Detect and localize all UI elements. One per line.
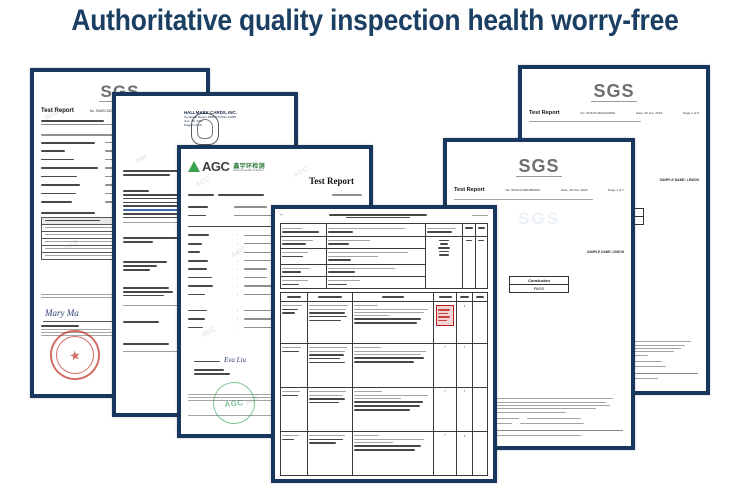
report-title: Test Report xyxy=(529,110,560,116)
table-row: / • xyxy=(281,432,488,476)
sgs-logo: SGS xyxy=(529,82,699,102)
report-page: Page 1 of 5 xyxy=(683,111,699,115)
report-date: Date: 26 Nov. 2018 xyxy=(561,188,587,192)
table-row: • xyxy=(281,302,488,344)
sample-name: SAMPLE NAME: LEMON xyxy=(660,178,699,182)
sample-name: SAMPLE NAME: LEMON xyxy=(587,250,624,254)
cn-info-table xyxy=(280,223,488,289)
table-row xyxy=(281,236,488,248)
hallmark-page: Page 1 of 20 xyxy=(184,123,288,127)
triangle-icon xyxy=(188,161,200,172)
star-icon: ★ xyxy=(68,348,82,363)
report-date: Date: 26 Jun. 2019 xyxy=(636,111,662,115)
sgs-wordmark: SGS xyxy=(516,157,561,177)
sgs-wordmark: SGS xyxy=(591,82,636,102)
table-row: / / xyxy=(281,344,488,388)
sgs-logo: SGS xyxy=(454,157,624,177)
certificate-collage: Authoritative quality inspection health … xyxy=(0,0,750,490)
cn-results-table: • / / / / xyxy=(280,292,488,476)
agc-logo: AGC 鑫宇环检测 Advanced Global Certification xyxy=(188,160,265,173)
table-header-row xyxy=(281,293,488,302)
certificate-cn-center[interactable]: ~ xyxy=(271,205,497,483)
conclusion-label: Conclusion xyxy=(510,277,568,285)
page-title: Authoritative quality inspection health … xyxy=(45,4,705,38)
report-number: No. SHAOC18/04882801 xyxy=(505,188,540,192)
conclusion-box: Conclusion PASS xyxy=(509,276,569,293)
green-agc-stamp: AGC xyxy=(211,380,257,426)
agc-report-title: Test Report xyxy=(188,176,354,186)
table-row xyxy=(281,224,488,236)
sheet-cn-center: ~ xyxy=(275,209,493,479)
table-row: / / xyxy=(281,388,488,432)
agc-tested-signature: Eva Liu xyxy=(224,356,246,364)
conclusion-value: PASS xyxy=(510,285,568,292)
report-page: Page 1 of 7 xyxy=(608,188,624,192)
agc-wordmark: AGC xyxy=(202,160,229,173)
report-number: No. SHAOC18/12102801 xyxy=(581,111,616,115)
agc-chinese-subtitle: Advanced Global Certification xyxy=(233,170,265,172)
report-title: Test Report xyxy=(41,108,74,114)
report-title: Test Report xyxy=(454,187,485,193)
agc-chinese-name: 鑫宇环检测 xyxy=(233,161,265,170)
